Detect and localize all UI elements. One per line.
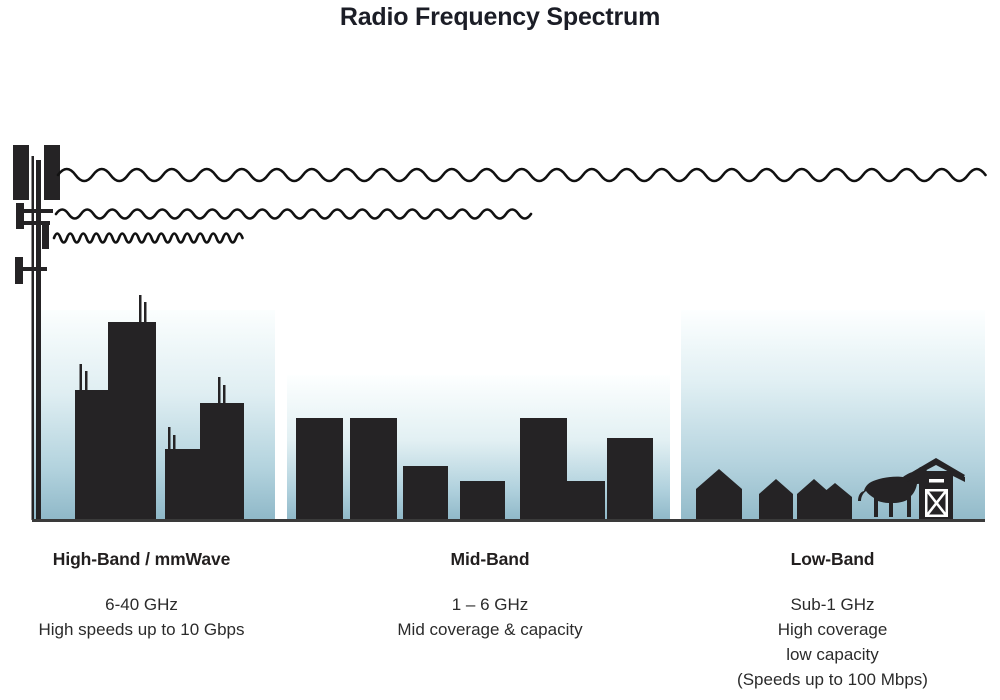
low-band-capacity: low capacity <box>680 642 985 667</box>
mid-band-speed: Mid coverage & capacity <box>330 617 650 642</box>
building-hb-1-spire-b <box>85 371 88 391</box>
low-band-frequency: Sub-1 GHz <box>680 592 985 617</box>
band-desc-mid-band: 1 – 6 GHz Mid coverage & capacity <box>330 592 650 642</box>
ground-line <box>32 519 985 522</box>
building-mb-1 <box>296 418 343 520</box>
tower-mast-thick <box>36 160 41 520</box>
building-hb-2-spire-a <box>139 295 142 323</box>
band-desc-high-band: 6-40 GHz High speeds up to 10 Gbps <box>0 592 283 642</box>
building-mb-4 <box>460 481 505 520</box>
building-hb-4-spire-a <box>218 377 221 404</box>
building-hb-1-spire-a <box>80 364 83 391</box>
low-frequency-wave <box>58 169 986 181</box>
band-desc-low-band: Sub-1 GHz High coverage low capacity (Sp… <box>680 592 985 692</box>
tower-crossbar-upper <box>16 209 53 213</box>
mid-band-frequency: 1 – 6 GHz <box>330 592 650 617</box>
tower-antenna-panel-right-top <box>44 145 60 200</box>
building-hb-4 <box>200 403 244 520</box>
high-frequency-wave <box>54 234 243 243</box>
low-band-coverage: High coverage <box>680 617 985 642</box>
radio-waves <box>54 169 986 243</box>
band-label-high-band: High-Band / mmWave <box>0 549 283 570</box>
barn-hayloft-window <box>929 479 944 483</box>
building-hb-3-spire-a <box>168 427 171 450</box>
high-band-frequency: 6-40 GHz <box>0 592 283 617</box>
building-mb-2 <box>350 418 397 520</box>
building-hb-4-spire-b <box>223 385 226 404</box>
tower-antenna-panel-left-top <box>13 145 29 200</box>
building-mb-7 <box>607 438 653 520</box>
building-mb-6 <box>567 481 605 520</box>
tower-antenna-panel-left-mid <box>16 203 24 229</box>
building-hb-3-spire-b <box>173 435 176 450</box>
infographic-canvas: Radio Frequency Spectrum <box>0 0 1000 700</box>
high-band-speed: High speeds up to 10 Gbps <box>0 617 283 642</box>
tower-crossbar-lower <box>15 267 47 271</box>
mid-frequency-wave <box>56 210 531 219</box>
low-band-speed: (Speeds up to 100 Mbps) <box>680 667 985 692</box>
band-label-low-band: Low-Band <box>680 549 985 570</box>
building-mb-5 <box>520 418 567 520</box>
building-hb-2-spire-b <box>144 302 147 323</box>
tower-antenna-panel-right-mid <box>42 224 49 249</box>
band-label-mid-band: Mid-Band <box>330 549 650 570</box>
building-mb-3 <box>403 466 448 520</box>
building-hb-2 <box>108 322 156 520</box>
